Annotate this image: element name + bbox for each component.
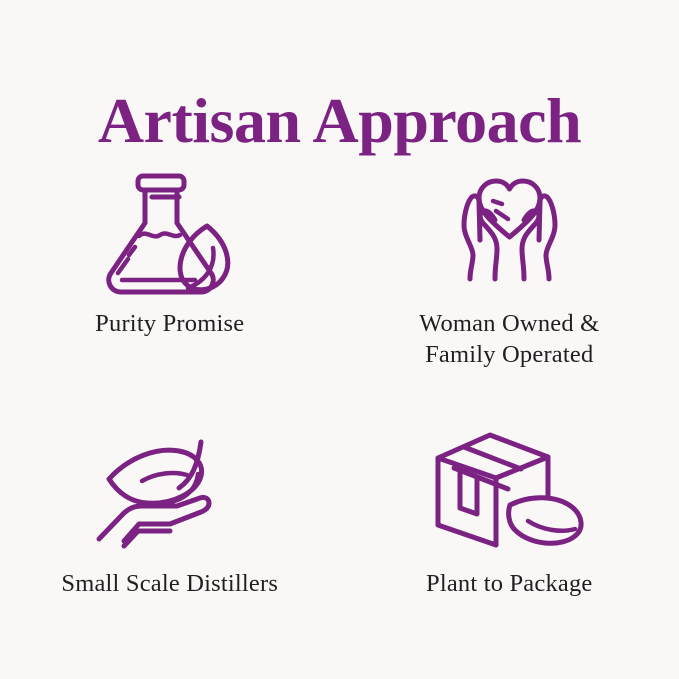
feature-caption: Purity Promise — [95, 308, 244, 339]
feature-caption: Woman Owned & Family Operated — [419, 308, 599, 371]
hands-heart-icon — [424, 164, 594, 294]
artisan-approach-panel: Artisan Approach — [0, 0, 679, 679]
page-title: Artisan Approach — [0, 87, 679, 154]
hand-leaf-icon — [85, 424, 255, 554]
feature-item-plant-to-package: Plant to Package — [340, 400, 679, 650]
feature-item-woman-owned: Woman Owned & Family Operated — [340, 150, 679, 400]
feature-caption: Plant to Package — [426, 568, 593, 599]
flask-leaf-icon — [85, 164, 255, 294]
caption-line: Woman Owned & — [419, 308, 599, 339]
box-leaf-icon — [424, 424, 594, 554]
feature-grid: Purity Promise — [0, 150, 679, 650]
feature-item-small-scale-distillers: Small Scale Distillers — [0, 400, 340, 650]
caption-line: Small Scale Distillers — [61, 568, 278, 599]
caption-line: Plant to Package — [426, 568, 593, 599]
feature-item-purity-promise: Purity Promise — [0, 150, 340, 400]
caption-line: Purity Promise — [95, 308, 244, 339]
feature-caption: Small Scale Distillers — [61, 568, 278, 599]
caption-line: Family Operated — [419, 339, 599, 370]
